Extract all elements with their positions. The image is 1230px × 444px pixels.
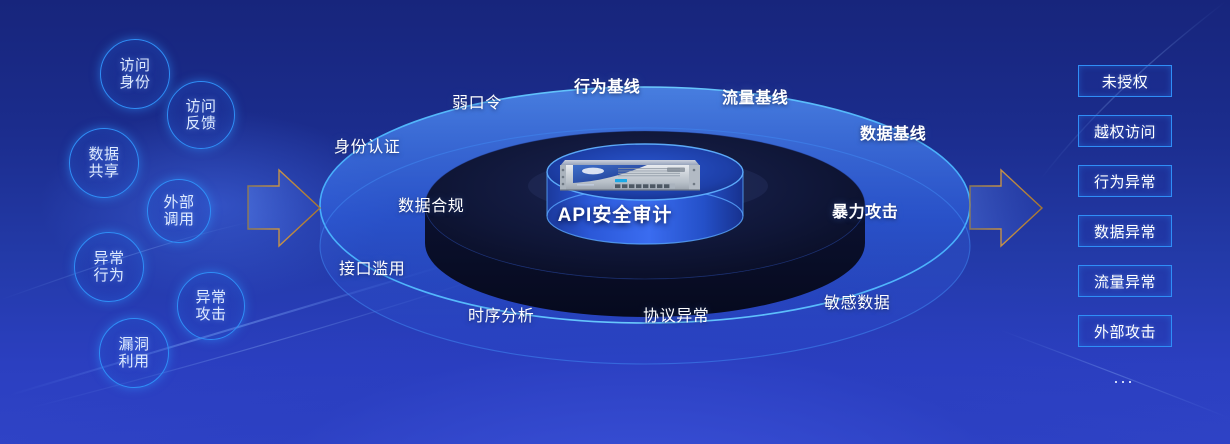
- output-box-behavior-anomaly[interactable]: 行为异常: [1078, 165, 1172, 197]
- output-box-privilege-escalation[interactable]: 越权访问: [1078, 115, 1172, 147]
- output-ellipsis: ...: [1078, 367, 1170, 388]
- output-box-data-anomaly[interactable]: 数据异常: [1078, 215, 1172, 247]
- diagram-canvas: API安全审计 访问 身份访问 反馈数据 共享外部 调用异常 行为异常 攻击漏洞…: [0, 0, 1230, 444]
- output-box-label: 未授权: [1102, 71, 1149, 92]
- output-box-traffic-anomaly[interactable]: 流量异常: [1078, 265, 1172, 297]
- output-box-external-attack[interactable]: 外部攻击: [1078, 315, 1172, 347]
- output-box-label: 外部攻击: [1094, 321, 1156, 342]
- output-box-unauthorized[interactable]: 未授权: [1078, 65, 1172, 97]
- output-box-label: 越权访问: [1094, 121, 1156, 142]
- output-box-label: 行为异常: [1094, 171, 1156, 192]
- output-box-label: 数据异常: [1094, 221, 1156, 242]
- output-box-group: 未授权越权访问行为异常数据异常流量异常外部攻击...: [0, 0, 1230, 444]
- output-box-label: 流量异常: [1094, 271, 1156, 292]
